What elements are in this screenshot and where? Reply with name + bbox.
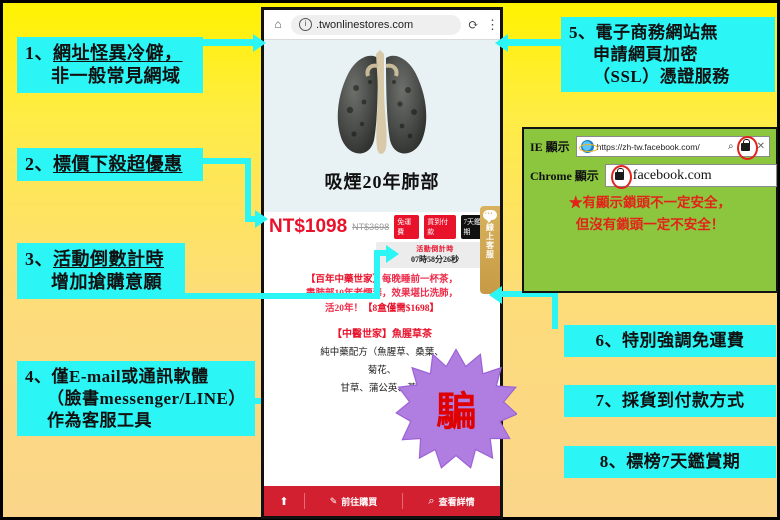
url-pill[interactable]: i .twonlinestores.com <box>291 15 461 35</box>
desc-line-3: 甘草、蒲公英、黃... <box>272 380 492 398</box>
ie-address-bar[interactable]: https://zh-tw.facebook.com/ ⌕ ✕ <box>576 136 770 157</box>
buy-button-label: 前往購買 <box>341 495 377 508</box>
chrome-label: Chrome 顯示 <box>530 167 599 184</box>
share-button[interactable]: ⬆ <box>264 495 304 508</box>
warning-text-2: 但沒有鎖頭一定不安全！ <box>576 217 725 232</box>
callout-7: 7、採貨到付款方式 <box>564 385 776 417</box>
ssl-warning-line2: 但沒有鎖頭一定不安全！ <box>530 216 770 234</box>
arrow-5 <box>495 34 508 52</box>
detail-button-label: 查看詳情 <box>439 495 475 508</box>
lungs-illustration <box>264 48 500 168</box>
reload-icon[interactable]: ⟳ <box>466 17 481 33</box>
price-row: NT$1098 NT$3698 免運費 貨到付款 7天鑑賞期 <box>264 212 500 241</box>
desc-line-2: 菊花、 <box>272 362 492 380</box>
menu-kebab-icon[interactable]: ⋮ <box>486 21 494 29</box>
detail-button[interactable]: ⌕ 查看詳情 <box>403 495 500 508</box>
chrome-lock-highlight <box>611 166 628 185</box>
star-icon: ★ <box>569 195 583 210</box>
promo-brand: 【百年中藥世家】 <box>306 275 382 285</box>
callout-2-line1: 標價下殺超優惠 <box>53 154 183 174</box>
callout-4-line2: （臉書messenger/LINE） <box>47 389 246 408</box>
lock-icon <box>741 143 750 151</box>
chrome-address-bar[interactable]: facebook.com <box>605 164 777 187</box>
callout-6-num: 6、 <box>596 331 623 350</box>
callout-5: 5、電子商務網站無 申請網頁加密 （SSL）憑證服務 <box>561 17 775 92</box>
callout-7-line1: 採貨到付款方式 <box>622 391 745 410</box>
buy-button[interactable]: ✎ 前往購買 <box>305 495 402 508</box>
url-text: .twonlinestores.com <box>316 19 413 31</box>
hero-caption: 吸煙20年肺部 <box>264 168 500 194</box>
service-tab-label: 線上客服 <box>485 223 496 259</box>
search-icon[interactable]: ⌕ <box>728 141 734 152</box>
callout-1: 1、網址怪異冷僻， 非一般常見網域 <box>17 37 203 93</box>
product-subtitle: 【中醫世家】魚腥草茶 <box>264 325 500 340</box>
online-service-tab[interactable]: ••• 線上客服 <box>480 206 500 294</box>
warning-text-1: 有顯示鎖頭不一定安全， <box>583 195 732 210</box>
arrow-6 <box>489 286 502 304</box>
callout-8-num: 8、 <box>600 452 627 471</box>
badge-cash-on-delivery: 貨到付款 <box>424 215 455 239</box>
ie-row: IE 顯示 https://zh-tw.facebook.com/ ⌕ ✕ <box>530 136 770 157</box>
phone-mockup: ⌂ i .twonlinestores.com ⟳ ⋮ <box>261 7 503 519</box>
callout-4: 4、僅E-mail或通訊軟體 （臉書messenger/LINE） 作為客服工具 <box>17 361 255 436</box>
chat-bubble-icon: ••• <box>483 210 497 220</box>
close-icon[interactable]: ✕ <box>757 141 765 152</box>
callout-8-line1: 標榜7天鑑賞期 <box>626 452 740 471</box>
ssl-lock-explainer-panel: IE 顯示 https://zh-tw.facebook.com/ ⌕ ✕ Ch… <box>522 127 778 293</box>
arrow-2 <box>255 210 268 228</box>
bottom-action-bar: ⬆ ✎ 前往購買 ⌕ 查看詳情 <box>264 486 500 516</box>
pencil-icon: ✎ <box>330 496 338 507</box>
callout-1-num: 1、 <box>25 43 53 63</box>
infographic-canvas: 1、網址怪異冷僻， 非一般常見網域 2、標價下殺超優惠 3、活動倒數計時 增加搶… <box>0 0 780 520</box>
callout-1-line2: 非一般常見網域 <box>51 66 181 86</box>
home-icon[interactable]: ⌂ <box>270 17 286 32</box>
lungs-svg <box>320 48 444 168</box>
connector-2-v <box>245 158 251 220</box>
callout-5-num: 5、 <box>569 23 596 42</box>
chrome-domain-text: facebook.com <box>633 168 712 184</box>
share-icon: ⬆ <box>279 495 288 508</box>
info-icon[interactable]: i <box>299 18 312 31</box>
internet-explorer-icon <box>581 140 594 153</box>
callout-5-line3: （SSL）憑證服務 <box>593 67 730 86</box>
callout-2-num: 2、 <box>25 154 53 174</box>
connector-5 <box>503 39 561 46</box>
callout-3: 3、活動倒數計時 增加搶購意願 <box>17 243 185 299</box>
callout-5-line1: 電子商務網站無 <box>596 23 719 42</box>
callout-4-num: 4、 <box>25 367 52 386</box>
ie-lock-highlight <box>737 137 754 156</box>
callout-3-line2: 增加搶購意願 <box>51 272 162 292</box>
connector-3-h <box>168 293 380 299</box>
callout-4-line3: 作為客服工具 <box>47 411 152 430</box>
arrow-1 <box>253 34 266 52</box>
search-icon: ⌕ <box>428 495 434 508</box>
callout-6: 6、特別強調免運費 <box>564 325 776 357</box>
arrow-3 <box>386 245 399 263</box>
original-price: NT$3698 <box>352 222 389 232</box>
callout-7-num: 7、 <box>596 391 623 410</box>
callout-3-num: 3、 <box>25 249 53 269</box>
product-hero-image: 吸煙20年肺部 <box>264 40 500 212</box>
desc-line-1: 純中藥配方（魚腥草、桑葉、 <box>272 344 492 362</box>
callout-2: 2、標價下殺超優惠 <box>17 148 203 181</box>
current-price: NT$1098 <box>269 216 347 238</box>
product-description: 純中藥配方（魚腥草、桑葉、 菊花、 甘草、蒲公英、黃... <box>264 340 500 398</box>
callout-5-line2: 申請網頁加密 <box>593 45 698 64</box>
promo-line3-pre: 活20年！ <box>325 304 363 314</box>
callout-3-line1: 活動倒數計時 <box>53 249 164 269</box>
callout-4-line1: 僅E-mail或通訊軟體 <box>52 367 209 386</box>
callout-1-line1: 網址怪異冷僻， <box>53 43 183 63</box>
badge-free-shipping: 免運費 <box>394 215 419 239</box>
lock-icon <box>615 172 624 180</box>
connector-3-v <box>374 250 380 299</box>
promo-line3-highlight: 【8盒僅需$1698】 <box>363 304 439 314</box>
promo-line1: 每晚睡前一杯茶， <box>382 275 458 285</box>
browser-address-bar[interactable]: ⌂ i .twonlinestores.com ⟳ ⋮ <box>264 10 500 40</box>
callout-8: 8、標榜7天鑑賞期 <box>564 446 776 478</box>
callout-6-line1: 特別強調免運費 <box>622 331 745 350</box>
ssl-warning-line1: ★有顯示鎖頭不一定安全， <box>530 194 770 212</box>
ie-url-text: https://zh-tw.facebook.com/ <box>597 142 725 152</box>
ie-label: IE 顯示 <box>530 138 570 155</box>
chrome-row: Chrome 顯示 facebook.com <box>530 164 770 187</box>
